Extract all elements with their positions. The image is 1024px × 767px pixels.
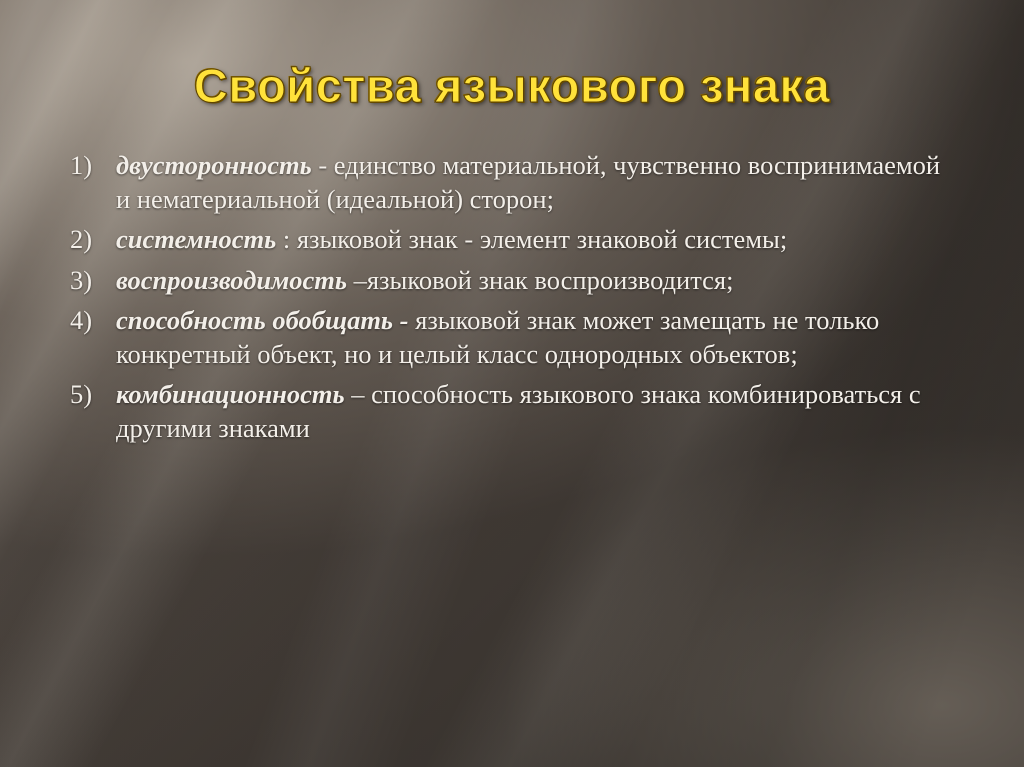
slide: Свойства языкового знака 1) двустороннос… — [0, 0, 1024, 767]
list-item: 4) способность обобщать - языковой знак … — [70, 303, 950, 371]
list-item-text: –языковой знак воспроизводится; — [347, 265, 733, 295]
list-item-text: : языковой знак - элемент знаковой систе… — [276, 224, 787, 254]
list-item-term: системность — [116, 224, 276, 254]
list-item-body: системность : языковой знак - элемент зн… — [116, 222, 950, 256]
list-item-body: способность обобщать - языковой знак мож… — [116, 303, 950, 371]
list-item-marker: 5) — [70, 377, 116, 411]
list-item-body: комбинационность – способность языкового… — [116, 377, 950, 445]
bullet-list: 1) двусторонность - единство материально… — [70, 148, 950, 451]
list-item-marker: 2) — [70, 222, 116, 256]
list-item-marker: 3) — [70, 263, 116, 297]
list-item-term: воспроизводимость — [116, 265, 347, 295]
list-item: 5) комбинационность – способность языков… — [70, 377, 950, 445]
list-item-term: комбинационность — [116, 379, 345, 409]
list-item-marker: 1) — [70, 148, 116, 182]
list-item-term: способность обобщать - — [116, 305, 409, 335]
list-item: 1) двусторонность - единство материально… — [70, 148, 950, 216]
list-item: 3) воспроизводимость –языковой знак восп… — [70, 263, 950, 297]
list-item-term: двусторонность — [116, 150, 312, 180]
list-item-marker: 4) — [70, 303, 116, 337]
list-item-body: воспроизводимость –языковой знак воспрои… — [116, 263, 950, 297]
list-item-body: двусторонность - единство материальной, … — [116, 148, 950, 216]
page-title: Свойства языкового знака — [0, 58, 1024, 113]
list-item: 2) системность : языковой знак - элемент… — [70, 222, 950, 256]
